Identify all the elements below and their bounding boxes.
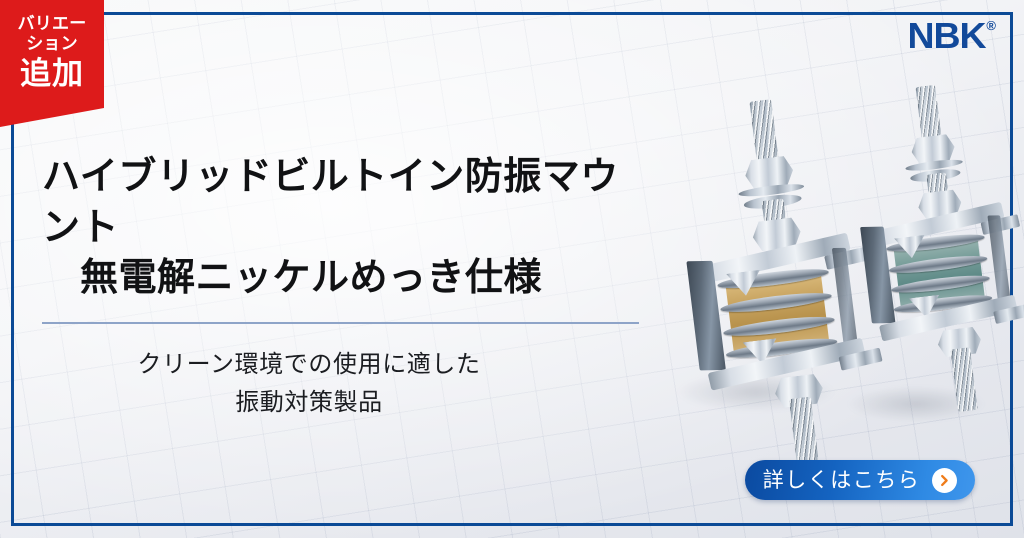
headline-block: ハイブリッドビルトイン防振マウント 無電解ニッケルめっき仕様 クリーン環境での使…	[42, 152, 642, 421]
title-divider	[42, 322, 639, 324]
subtitle-line-2: 振動対策製品	[42, 384, 576, 422]
promo-banner: バリエー ション 追加 NBK ® ハイブリッドビルトイン防振マウント 無電解ニ…	[0, 0, 1024, 538]
variation-added-badge: バリエー ション 追加	[0, 0, 104, 127]
details-cta-button[interactable]: 詳しくはこちら	[745, 460, 975, 500]
registered-trademark-icon: ®	[986, 19, 996, 32]
badge-line-1: バリエー	[18, 14, 87, 34]
subtitle-line-1: クリーン環境での使用に適した	[42, 346, 576, 384]
title-line-1: ハイブリッドビルトイン防振マウント	[42, 152, 642, 253]
title-line-2: 無電解ニッケルめっき仕様	[42, 253, 642, 304]
logo-wordmark: NBK	[908, 18, 986, 54]
badge-line-2: ション	[26, 34, 78, 54]
nbk-logo: NBK ®	[909, 18, 996, 54]
badge-main-text: 追加	[20, 58, 84, 91]
chevron-right-icon	[932, 468, 957, 493]
subtitle: クリーン環境での使用に適した 振動対策製品	[42, 346, 642, 422]
cta-label: 詳しくはこちら	[763, 470, 921, 491]
page-title: ハイブリッドビルトイン防振マウント 無電解ニッケルめっき仕様	[42, 152, 642, 304]
product-image	[648, 86, 1024, 466]
